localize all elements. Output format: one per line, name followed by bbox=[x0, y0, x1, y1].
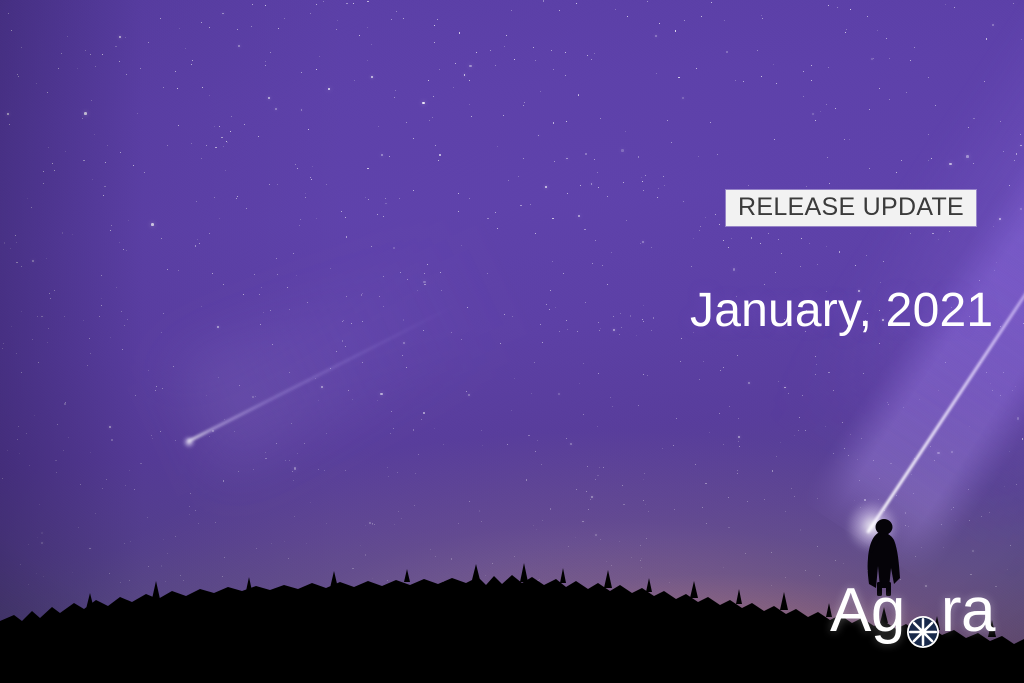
release-update-slide: RELEASE UPDATE January, 2021 Ag bbox=[0, 0, 1024, 683]
logo-text-after: ra bbox=[941, 580, 995, 642]
logo-text-before: Ag bbox=[830, 580, 905, 642]
wheel-spoke-icon bbox=[906, 598, 940, 632]
agora-logo: Ag ra bbox=[830, 580, 995, 642]
release-update-badge: RELEASE UPDATE bbox=[726, 190, 976, 226]
release-date-text: January, 2021 bbox=[690, 286, 993, 336]
